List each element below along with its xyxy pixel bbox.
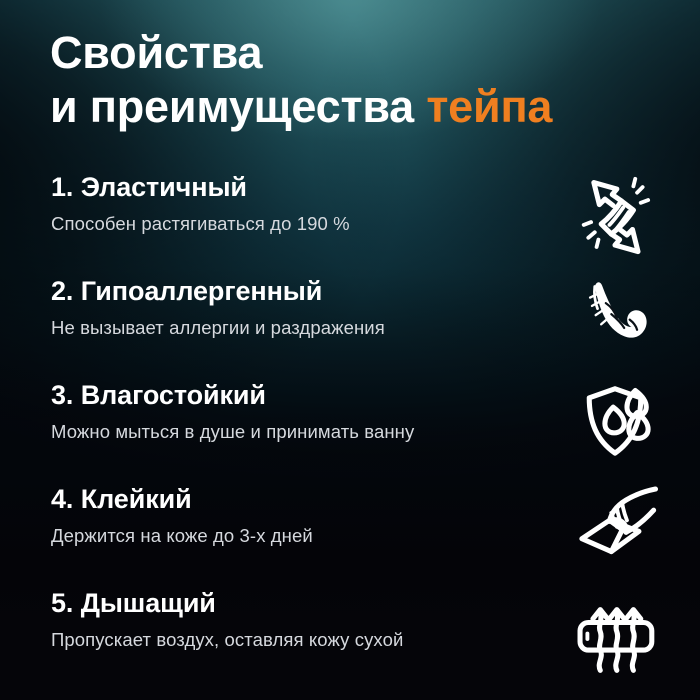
feature-item-adhesive: 4. Клейкий Держится на коже до 3-х дней <box>0 472 700 576</box>
page-title: Свойства и преимущества тейпа <box>50 26 650 134</box>
shield-water-drops-icon <box>565 370 665 470</box>
feature-item-elastic: 1. Эластичный Способен растягиваться до … <box>0 160 700 264</box>
title-accent-word: тейпа <box>426 81 552 132</box>
taping-features-poster: Свойства и преимущества тейпа 1. Эластич… <box>0 0 700 700</box>
poster-content: Свойства и преимущества тейпа 1. Эластич… <box>0 0 700 700</box>
feature-subtitle: Пропускает воздух, оставляя кожу сухой <box>51 629 403 651</box>
feature-heading: 1. Эластичный <box>51 172 247 203</box>
feature-heading: 4. Клейкий <box>51 484 192 515</box>
feature-heading: 2. Гипоаллергенный <box>51 276 322 307</box>
feature-subtitle: Не вызывает аллергии и раздражения <box>51 317 385 339</box>
feature-item-waterproof: 3. Влагостойкий Можно мыться в душе и пр… <box>0 368 700 472</box>
feature-list: 1. Эластичный Способен растягиваться до … <box>0 160 700 680</box>
feature-subtitle: Держится на коже до 3-х дней <box>51 525 313 547</box>
title-line-1: Свойства <box>50 26 650 80</box>
hand-peeling-tape-icon <box>565 474 665 574</box>
feature-item-breathable: 5. Дышащий Пропускает воздух, оставляя к… <box>0 576 700 680</box>
feature-subtitle: Способен растягиваться до 190 % <box>51 213 350 235</box>
breathable-airflow-icon <box>565 578 665 678</box>
feature-heading: 5. Дышащий <box>51 588 216 619</box>
feature-heading: 3. Влагостойкий <box>51 380 266 411</box>
feather-icon <box>565 266 665 366</box>
feature-subtitle: Можно мыться в душе и принимать ванну <box>51 421 414 443</box>
feature-item-hypoallergenic: 2. Гипоаллергенный Не вызывает аллергии … <box>0 264 700 368</box>
stretch-arrows-icon <box>565 162 665 262</box>
title-line-2-plain: и преимущества <box>50 81 426 132</box>
title-line-2: и преимущества тейпа <box>50 80 650 134</box>
